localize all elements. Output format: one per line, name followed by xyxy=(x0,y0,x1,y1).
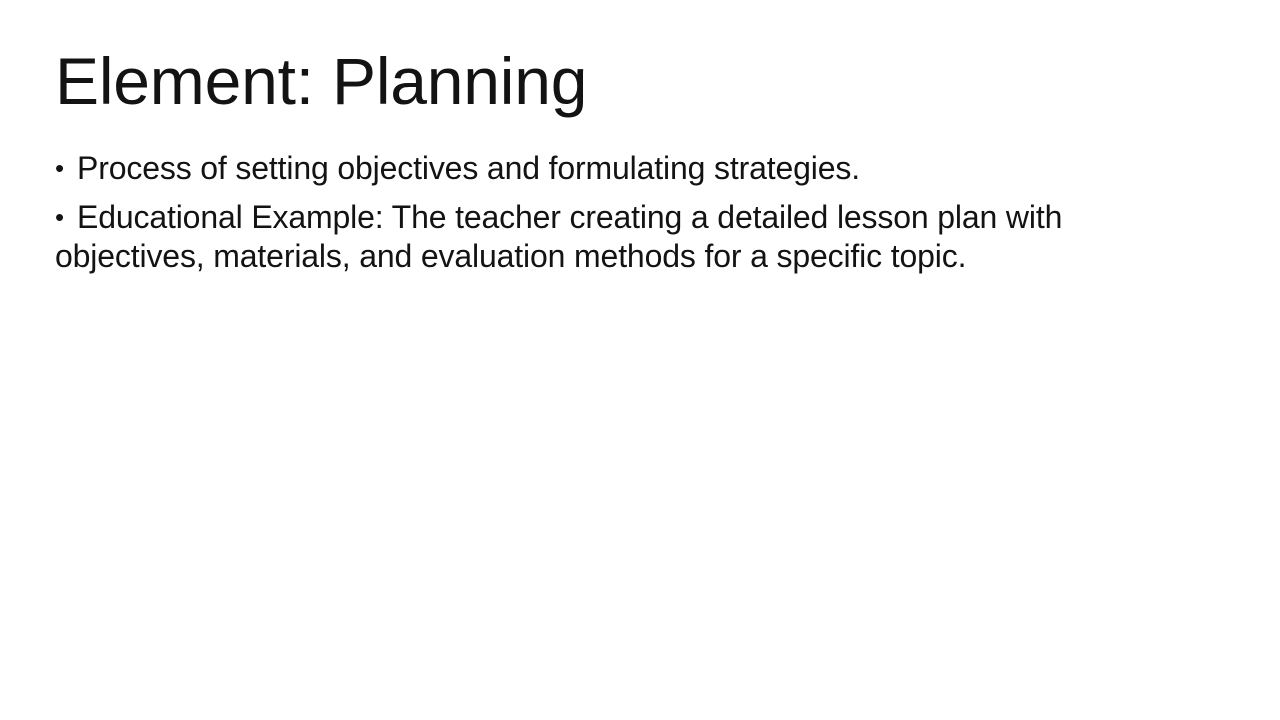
page-title: Element: Planning xyxy=(55,48,1225,114)
bullet-dot-icon: • xyxy=(55,145,77,192)
list-item: •Process of setting objectives and formu… xyxy=(55,145,1133,192)
bullet-dot-icon: • xyxy=(55,198,77,237)
slide-body-placeholder: •Process of setting objectives and formu… xyxy=(55,145,1133,277)
list-item-text: Process of setting objectives and formul… xyxy=(77,150,860,186)
list-item: •Educational Example: The teacher creati… xyxy=(55,198,1133,276)
list-item-text: Educational Example: The teacher creatin… xyxy=(55,199,1062,274)
slide-canvas: Element: Planning •Process of setting ob… xyxy=(0,0,1280,720)
bullet-list: •Process of setting objectives and formu… xyxy=(55,145,1133,276)
